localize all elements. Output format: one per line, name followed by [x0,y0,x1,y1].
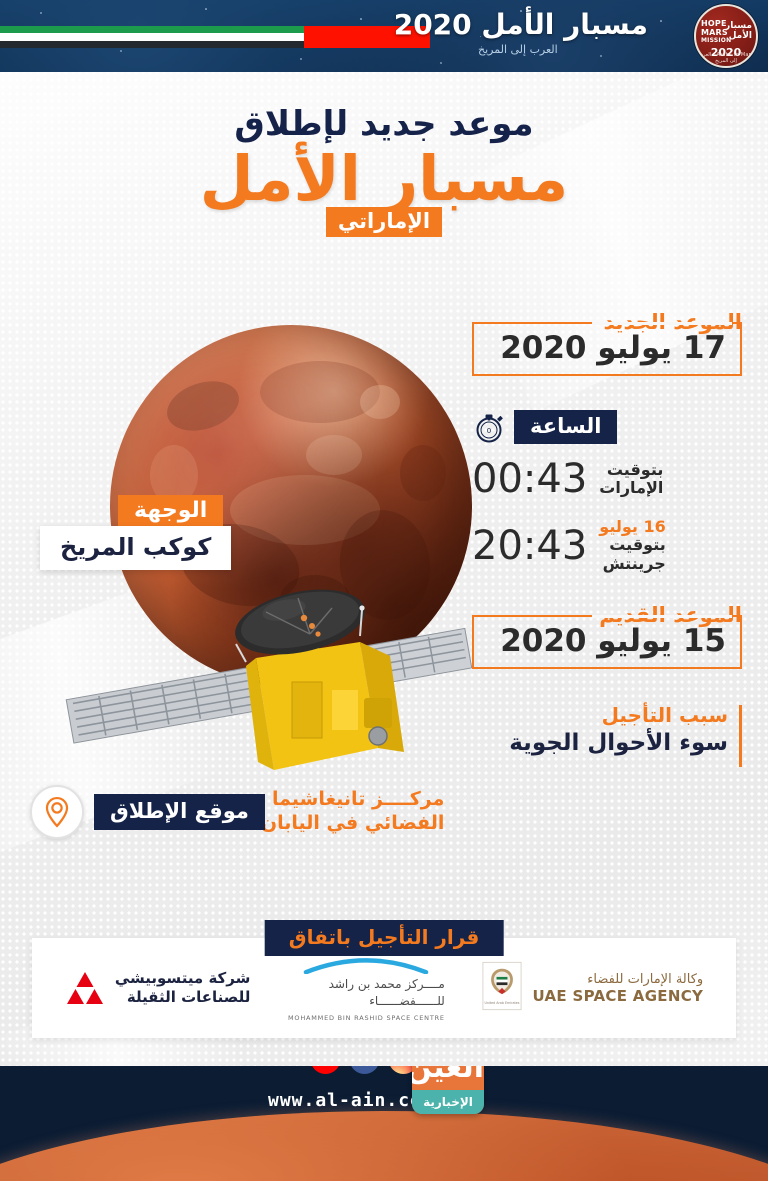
al-ain-logo-arabic: العين [412,1066,484,1085]
destination-group: الوجهة كوكب المريخ [40,495,231,570]
new-date-group: الموعد الجديد 17 يوليو 2020 [472,310,742,376]
mbrsc-arabic-line-2: للــــــفضــــــاء [288,993,445,1010]
old-date-value: 15 يوليو 2020 [488,623,726,659]
time-row: 16 يوليو بتوقيت جرينتش 20:43 [472,518,742,573]
hour-label: الساعة [514,410,617,444]
infographic-poster: مسبار الأمل 2020 العرب إلى المريخ HOPE M… [0,0,768,1181]
title-line-2: مسبار الأمل [0,146,768,213]
hope-logo-arc-text: Arabs to Mars · العرب إلى المريخ [696,52,756,64]
partner-mitsubishi-heavy-industries: شركة ميتسوبيشي للصناعات الثقيلة [65,969,251,1008]
youtube-icon[interactable] [311,1066,341,1074]
new-date-box: 17 يوليو 2020 [472,322,742,376]
partner-mbr-space-centre: مــــركز محمد بن راشد للــــــفضــــــاء… [288,954,445,1023]
delay-reason-group: سبب التأجيل سوء الأحوال الجوية [472,703,742,756]
stopwatch-icon: 0 [472,410,506,444]
delay-reason-value: سوء الأحوال الجوية [472,730,728,756]
time-row: بتوقيت الإمارات 00:43 [472,456,742,502]
header-subtitle: العرب إلى المريخ [394,43,648,56]
mbrsc-arabic-line-1: مــــركز محمد بن راشد [288,976,445,993]
header-bar: مسبار الأمل 2020 العرب إلى المريخ HOPE M… [0,0,768,72]
old-date-box: 15 يوليو 2020 [472,615,742,669]
website-url[interactable]: www.al-ain.com [268,1090,434,1111]
time-row-date: 16 يوليو [599,518,665,536]
launch-site-label: موقع الإطلاق [94,794,265,830]
launch-site-value: مركــــز تانيغاشيما الفضائي في اليابان [261,788,444,836]
hour-header: الساعة 0 [472,410,742,444]
hope-probe-spacecraft-image [60,570,480,790]
mitsubishi-name: شركة ميتسوبيشي للصناعات الثقيلة [115,969,251,1008]
partners-badge: قرار التأجيل باتفاق [265,920,504,956]
partners-section: قرار التأجيل باتفاق وكالة الإمارات للفضا… [32,920,736,1038]
time-zone-label: 16 يوليو بتوقيت جرينتش [599,518,665,573]
old-date-group: الموعد القديم 15 يوليو 2020 [472,603,742,669]
footer-bar: www.al-ain.com العين الإخبارية [0,1066,768,1181]
uae-space-agency-english: UAE SPACE AGENCY [532,987,703,1005]
launch-site-group: موقع الإطلاق مركــــز تانيغاشيما الفضائي… [30,785,452,839]
mbrsc-arc-icon [288,954,445,974]
location-pin-icon [30,785,84,839]
title-badge: الإماراتي [326,207,442,237]
main-title-group: موعد جديد لإطلاق مسبار الأمل الإماراتي [0,104,768,237]
partner-uae-space-agency: وكالة الإمارات للفضاء UAE SPACE AGENCY U… [482,961,703,1015]
destination-value: كوكب المريخ [40,526,231,570]
mbrsc-english: MOHAMMED BIN RASHID SPACE CENTRE [288,1014,445,1022]
flag-white-stripe [0,33,304,40]
time-value: 20:43 [472,523,587,569]
hope-logo-arabic: مسبار الأمل [722,21,752,41]
mitsubishi-logo-icon [65,970,105,1006]
uae-flag-stripe [0,26,430,48]
delay-reason-label: سبب التأجيل [472,703,728,727]
al-ain-logo-sub: الإخبارية [412,1090,484,1114]
facebook-icon[interactable] [350,1066,380,1074]
flag-green-stripe [0,26,304,33]
new-date-value: 17 يوليو 2020 [488,330,726,366]
hope-mars-mission-logo-icon: HOPE MARS MISSION مسبار الأمل 2020 Arabs… [694,4,758,68]
title-line-1: موعد جديد لإطلاق [0,104,768,144]
time-zone-label: بتوقيت الإمارات [599,461,663,498]
svg-text:United Arab Emirates: United Arab Emirates [485,1001,520,1005]
al-ain-news-logo-icon[interactable]: العين الإخبارية [412,1066,484,1114]
header-title: مسبار الأمل 2020 [394,8,648,42]
time-value: 00:43 [472,456,587,502]
svg-text:0: 0 [487,427,491,435]
mars-horizon-image [0,1111,768,1181]
flag-black-stripe [0,41,304,48]
details-column: الموعد الجديد 17 يوليو 2020 الساعة 0 [472,310,742,756]
uae-emblem-icon: United Arab Emirates [482,961,522,1015]
uae-space-agency-arabic: وكالة الإمارات للفضاء [532,972,703,987]
header-title-group: مسبار الأمل 2020 العرب إلى المريخ [394,8,648,56]
destination-label: الوجهة [118,495,223,528]
